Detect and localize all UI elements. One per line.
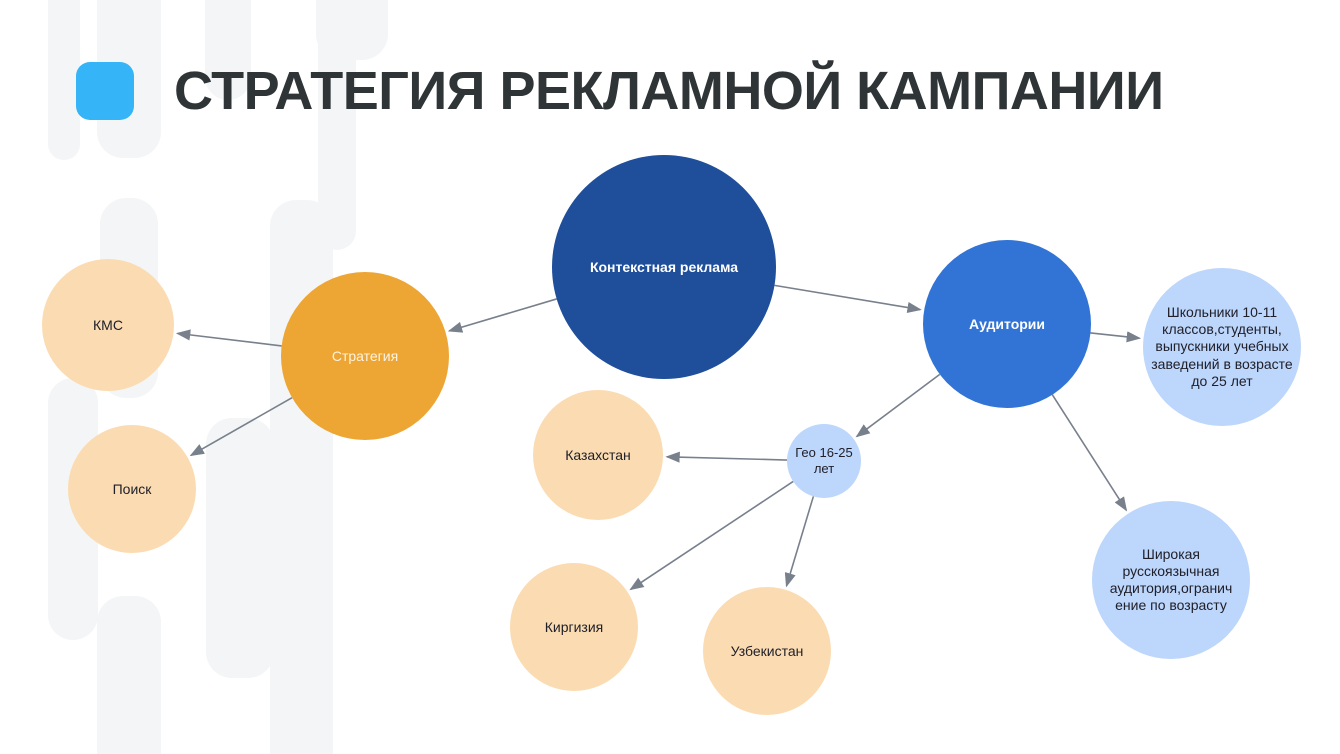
diagram-node-label: Гео 16-25 лет bbox=[787, 445, 861, 477]
diagram-node-strategy[interactable]: Стратегия bbox=[281, 272, 449, 440]
page-title: СТРАТЕГИЯ РЕКЛАМНОЙ КАМПАНИИ bbox=[76, 62, 1164, 120]
diagram-node-kazakhstan[interactable]: Казахстан bbox=[533, 390, 663, 520]
page-title-text: СТРАТЕГИЯ РЕКЛАМНОЙ КАМПАНИИ bbox=[174, 64, 1164, 118]
blue-rounded-square-icon bbox=[76, 62, 134, 120]
diagram-node-search[interactable]: Поиск bbox=[68, 425, 196, 553]
diagram-node-label: Казахстан bbox=[533, 447, 663, 463]
diagram-node-label: Контекстная реклама bbox=[552, 259, 776, 275]
diagram-node-label: Аудитории bbox=[923, 316, 1091, 332]
diagram-node-kyrgyzstan[interactable]: Киргизия bbox=[510, 563, 638, 691]
diagram-node-uzbekistan[interactable]: Узбекистан bbox=[703, 587, 831, 715]
diagram-node-kms[interactable]: КМС bbox=[42, 259, 174, 391]
diagram-node-label: Киргизия bbox=[510, 619, 638, 635]
slide-canvas: СТРАТЕГИЯ РЕКЛАМНОЙ КАМПАНИИ Контекстная… bbox=[0, 0, 1340, 754]
diagram-node-broad[interactable]: Широкая русскоязычная аудитория,огранич … bbox=[1092, 501, 1250, 659]
diagram-node-audiences[interactable]: Аудитории bbox=[923, 240, 1091, 408]
diagram-node-context_ad[interactable]: Контекстная реклама bbox=[552, 155, 776, 379]
diagram-node-label: КМС bbox=[42, 317, 174, 333]
diagram-node-label: Узбекистан bbox=[703, 643, 831, 659]
diagram-node-geo[interactable]: Гео 16-25 лет bbox=[787, 424, 861, 498]
diagram-node-label: Стратегия bbox=[281, 348, 449, 364]
diagram-node-students[interactable]: Школьники 10-11 классов,студенты, выпуск… bbox=[1143, 268, 1301, 426]
diagram-node-label: Поиск bbox=[68, 481, 196, 497]
diagram-node-label: Широкая русскоязычная аудитория,огранич … bbox=[1092, 546, 1250, 614]
diagram-node-label: Школьники 10-11 классов,студенты, выпуск… bbox=[1143, 304, 1301, 389]
